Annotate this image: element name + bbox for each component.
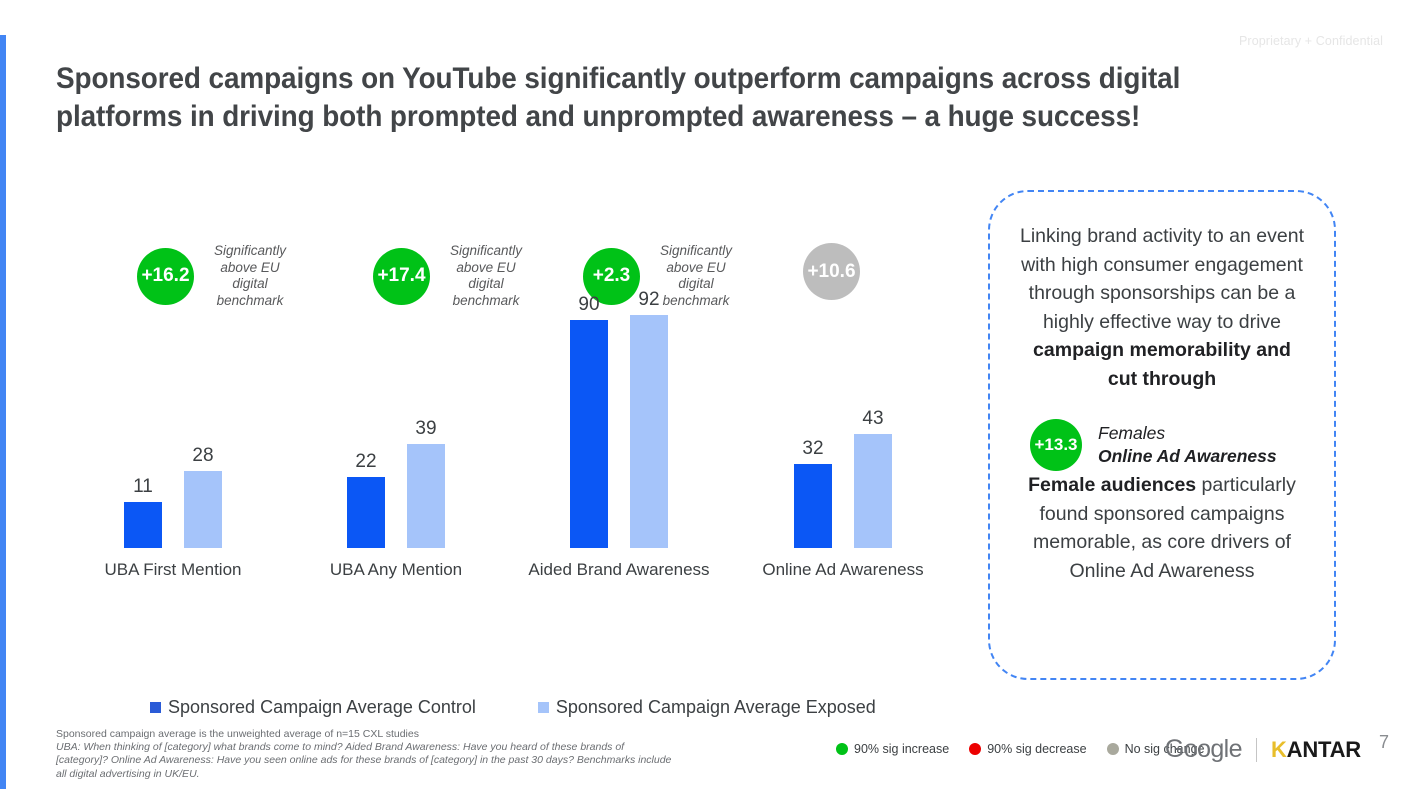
category-label: Aided Brand Awareness — [519, 560, 719, 580]
bar-value-label: 90 — [578, 294, 599, 320]
kantar-k-glyph: K — [1271, 737, 1287, 763]
sig-legend-label: 90% sig increase — [854, 742, 949, 756]
callout-p2-bold: Female audiences — [1028, 474, 1196, 496]
slide: Proprietary + Confidential Sponsored cam… — [0, 0, 1407, 789]
legend-item-exposed: Sponsored Campaign Average Exposed — [538, 697, 876, 718]
callout-paragraph-2: Female audiences particularly found spon… — [1016, 471, 1308, 585]
kantar-rest: ANTAR — [1287, 737, 1361, 763]
chart-group-aided-brand-awareness: 90 92 Aided Brand Awareness — [519, 0, 719, 700]
stat-line-2: Online Ad Awareness — [1098, 445, 1277, 468]
stat-value-circle: +13.3 — [1030, 419, 1082, 471]
bar-chart: 11 28 UBA First Mention 22 39 — [0, 0, 960, 700]
stat-line-1: Females — [1098, 422, 1277, 445]
callout-p1-bold: campaign memorability and cut through — [1033, 339, 1291, 390]
bar-value-label: 22 — [355, 451, 376, 477]
chart-group-uba-first-mention: 11 28 UBA First Mention — [73, 0, 273, 700]
category-label: UBA Any Mention — [296, 560, 496, 580]
sig-legend-item-increase: 90% sig increase — [836, 742, 949, 756]
grey-dot-icon — [1107, 743, 1119, 755]
bar-control: 22 — [347, 477, 385, 548]
stat-lines: Females Online Ad Awareness — [1098, 422, 1277, 468]
bar-value-label: 92 — [638, 289, 659, 315]
logo-divider — [1256, 738, 1257, 762]
legend-swatch-icon — [538, 702, 549, 713]
legend-label: Sponsored Campaign Average Exposed — [556, 697, 876, 718]
sig-legend-label: 90% sig decrease — [987, 742, 1086, 756]
kantar-logo: KANTAR — [1271, 737, 1361, 763]
callout-p1-plain: Linking brand activity to an event with … — [1020, 225, 1304, 333]
google-logo: Google — [1165, 735, 1242, 764]
chart-group-uba-any-mention: 22 39 UBA Any Mention — [296, 0, 496, 700]
insight-callout: Linking brand activity to an event with … — [988, 190, 1336, 680]
green-dot-icon — [836, 743, 848, 755]
significance-legend: 90% sig increase 90% sig decrease No sig… — [836, 742, 1205, 756]
bar-value-label: 39 — [415, 418, 436, 444]
bar-control: 11 — [124, 502, 162, 548]
footnote-line-2: UBA: When thinking of [category] what br… — [56, 741, 676, 781]
confidential-label: Proprietary + Confidential — [1239, 34, 1383, 48]
legend-swatch-icon — [150, 702, 161, 713]
chart-group-online-ad-awareness: 32 43 Online Ad Awareness — [743, 0, 943, 700]
bar-exposed: 39 — [407, 444, 445, 548]
bar-exposed: 28 — [184, 471, 222, 548]
footnote: Sponsored campaign average is the unweig… — [56, 728, 676, 781]
legend-item-control: Sponsored Campaign Average Control — [150, 697, 476, 718]
logo-group: Google KANTAR — [1165, 735, 1361, 764]
bar-value-label: 11 — [133, 476, 153, 502]
category-label: Online Ad Awareness — [743, 560, 943, 580]
callout-stat: +13.3 Females Online Ad Awareness — [1030, 419, 1308, 471]
bar-exposed: 43 — [854, 434, 892, 548]
bar-value-label: 43 — [862, 408, 883, 434]
callout-paragraph-1: Linking brand activity to an event with … — [1016, 222, 1308, 393]
bar-control: 90 — [570, 320, 608, 548]
bar-value-label: 32 — [802, 438, 823, 464]
chart-legend: Sponsored Campaign Average Control Spons… — [150, 697, 910, 718]
legend-label: Sponsored Campaign Average Control — [168, 697, 476, 718]
bar-value-label: 28 — [192, 445, 213, 471]
category-label: UBA First Mention — [73, 560, 273, 580]
bar-exposed: 92 — [630, 315, 668, 548]
page-number: 7 — [1379, 732, 1389, 753]
footnote-line-1: Sponsored campaign average is the unweig… — [56, 728, 676, 741]
red-dot-icon — [969, 743, 981, 755]
bar-control: 32 — [794, 464, 832, 548]
sig-legend-item-decrease: 90% sig decrease — [969, 742, 1086, 756]
